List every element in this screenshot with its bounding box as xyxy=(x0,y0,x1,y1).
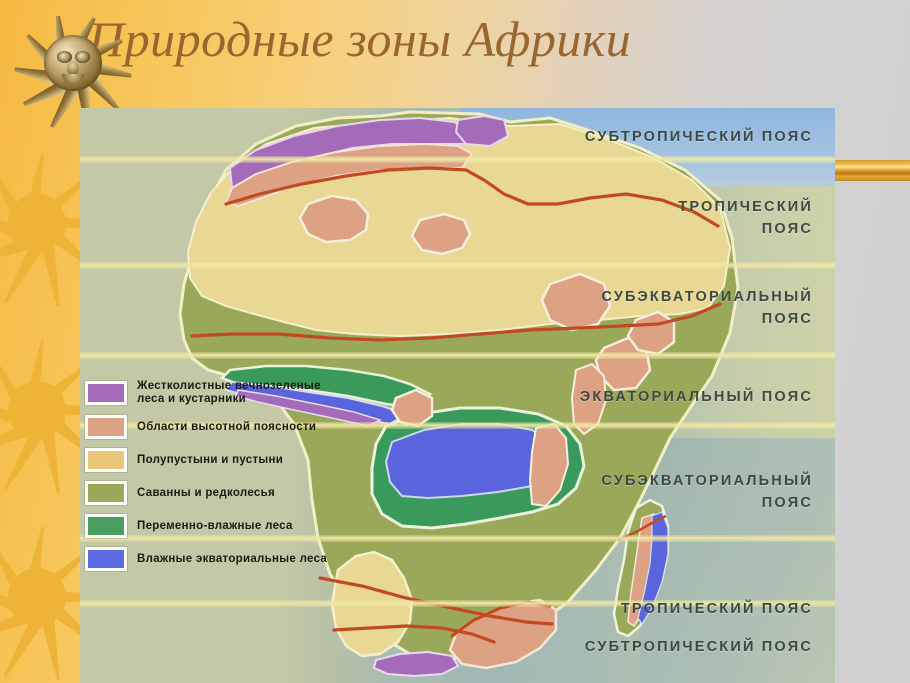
climate-belt-label-subequatorial-north: СУБЭКВАТОРИАЛЬНЫЙ ПОЯС xyxy=(601,286,813,330)
legend-item[interactable]: Переменно-влажные леса xyxy=(85,514,385,538)
climate-belt-label-subequatorial-south: СУБЭКВАТОРИАЛЬНЫЙ ПОЯС xyxy=(601,470,813,514)
page-title: Природные зоны Африки xyxy=(88,10,631,68)
belt-divider xyxy=(80,262,835,269)
ethiopia-highland-north xyxy=(542,274,610,330)
legend-swatch-desert xyxy=(85,448,127,472)
climate-belt-label-tropical-north: ТРОПИЧЕСКИЙ ПОЯС xyxy=(678,196,813,240)
slide-canvas: Природные зоны Африки xyxy=(0,0,910,683)
legend-item[interactable]: Влажные экваториальные леса xyxy=(85,547,385,571)
legend-swatch-equatorial-forest xyxy=(85,547,127,571)
legend-item[interactable]: Области высотной поясности xyxy=(85,415,385,439)
belt-divider xyxy=(80,156,835,163)
climate-belt-label-subtropical-south: СУБТРОПИЧЕСКИЙ ПОЯС xyxy=(585,636,813,658)
map-panel[interactable]: СУБТРОПИЧЕСКИЙ ПОЯС ТРОПИЧЕСКИЙ ПОЯС СУБ… xyxy=(80,108,835,683)
legend-swatch-highland xyxy=(85,415,127,439)
ahaggar-highland xyxy=(300,196,368,242)
legend-item[interactable]: Полупустыни и пустыни xyxy=(85,448,385,472)
legend-swatch-mediterranean xyxy=(85,381,127,405)
sun-eye-right-icon xyxy=(75,51,90,63)
climate-belt-label-equatorial: ЭКВАТОРИАЛЬНЫЙ ПОЯС xyxy=(580,386,813,408)
legend-label: Жестколистные вечнозеленые леса и кустар… xyxy=(137,380,321,406)
tibesti-highland xyxy=(412,214,470,254)
map-legend: Жестколистные вечнозеленые леса и кустар… xyxy=(85,380,385,580)
legend-item[interactable]: Саванны и редколесья xyxy=(85,481,385,505)
legend-swatch-variable-forest xyxy=(85,514,127,538)
legend-label: Влажные экваториальные леса xyxy=(137,553,327,566)
gold-bar-decoration xyxy=(834,160,910,181)
climate-belt-label-subtropical-north: СУБТРОПИЧЕСКИЙ ПОЯС xyxy=(585,126,813,148)
legend-item[interactable]: Жестколистные вечнозеленые леса и кустар… xyxy=(85,380,385,406)
legend-label: Переменно-влажные леса xyxy=(137,520,293,533)
sun-face-core xyxy=(44,35,102,91)
sun-nose-icon xyxy=(67,61,79,75)
legend-label: Области высотной поясности xyxy=(137,421,316,434)
climate-belt-label-tropical-south: ТРОПИЧЕСКИЙ ПОЯС xyxy=(621,598,813,620)
cape-mediterranean-zone xyxy=(374,652,458,676)
legend-label: Полупустыни и пустыни xyxy=(137,454,283,467)
legend-label: Саванны и редколесья xyxy=(137,487,275,500)
sun-face-icon xyxy=(8,4,138,122)
belt-divider xyxy=(80,352,835,359)
sun-mouth-icon xyxy=(62,74,84,85)
legend-swatch-savanna xyxy=(85,481,127,505)
